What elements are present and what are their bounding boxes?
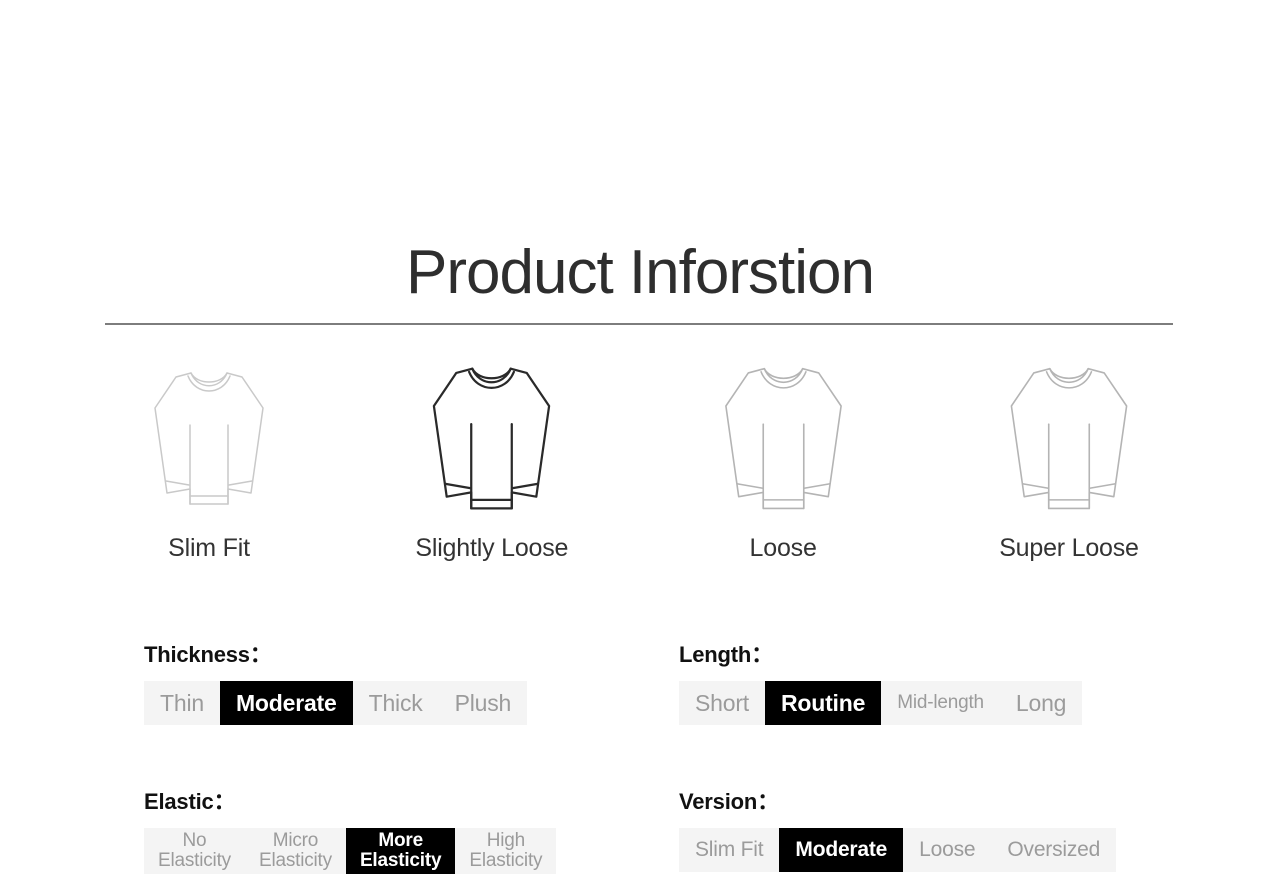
segmented-control-thickness: ThinModerateThickPlush: [144, 681, 527, 725]
fit-option-slim-fit[interactable]: Slim Fit: [150, 358, 268, 563]
fit-option-label: Slightly Loose: [415, 534, 568, 563]
segmented-control-elastic: NoElasticityMicroElasticityMoreElasticit…: [144, 828, 556, 874]
option-label-line2: Elasticity: [158, 851, 231, 871]
option-label-line2: Elasticity: [259, 851, 332, 871]
sweater-icon: [150, 358, 268, 518]
sweater-icon: [428, 358, 555, 518]
option-thickness-thin[interactable]: Thin: [144, 681, 220, 725]
option-elastic-more-elasticity[interactable]: MoreElasticity: [346, 828, 455, 874]
option-version-oversized[interactable]: Oversized: [991, 828, 1116, 872]
option-version-loose[interactable]: Loose: [903, 828, 991, 872]
product-information-page: Product Inforstion Slim FitSlightly Loos…: [0, 0, 1280, 872]
group-label-thickness: Thickness：: [144, 637, 527, 669]
group-label-version: Version：: [679, 784, 1116, 816]
option-thickness-thick[interactable]: Thick: [353, 681, 439, 725]
fit-option-label: Super Loose: [999, 534, 1139, 563]
option-length-routine[interactable]: Routine: [765, 681, 881, 725]
option-label-line2: Elasticity: [469, 851, 542, 871]
option-elastic-no-elasticity[interactable]: NoElasticity: [144, 828, 245, 874]
option-version-slim-fit[interactable]: Slim Fit: [679, 828, 779, 872]
fit-option-slightly-loose[interactable]: Slightly Loose: [415, 358, 568, 563]
sweater-icon: [716, 358, 851, 518]
group-label-length: Length：: [679, 637, 1082, 669]
option-length-long[interactable]: Long: [1000, 681, 1082, 725]
fit-option-loose[interactable]: Loose: [716, 358, 851, 563]
segmented-control-version: Slim FitModerateLooseOversized: [679, 828, 1116, 872]
option-label-line2: Elasticity: [360, 851, 441, 871]
option-version-moderate[interactable]: Moderate: [779, 828, 903, 872]
option-group-version: Version：Slim FitModerateLooseOversized: [679, 784, 1116, 872]
group-label-elastic: Elastic：: [144, 784, 556, 816]
sweater-icon: [998, 358, 1140, 518]
fit-options-row: Slim FitSlightly LooseLooseSuper Loose: [150, 358, 1140, 563]
page-title: Product Inforstion: [0, 242, 1280, 304]
fit-option-super-loose[interactable]: Super Loose: [998, 358, 1140, 563]
option-length-mid-length[interactable]: Mid-length: [881, 681, 1000, 725]
option-label-line1: No: [183, 831, 207, 851]
option-label-line1: High: [487, 831, 525, 851]
option-label-line1: More: [378, 831, 423, 851]
segmented-control-length: ShortRoutineMid-lengthLong: [679, 681, 1082, 725]
option-elastic-high-elasticity[interactable]: HighElasticity: [455, 828, 556, 874]
header-divider: [105, 323, 1173, 325]
option-group-length: Length：ShortRoutineMid-lengthLong: [679, 637, 1082, 725]
option-thickness-moderate[interactable]: Moderate: [220, 681, 353, 725]
fit-option-label: Slim Fit: [168, 534, 250, 563]
option-elastic-micro-elasticity[interactable]: MicroElasticity: [245, 828, 346, 874]
option-thickness-plush[interactable]: Plush: [439, 681, 528, 725]
fit-option-label: Loose: [750, 534, 817, 563]
option-group-elastic: Elastic：NoElasticityMicroElasticityMoreE…: [144, 784, 556, 874]
option-length-short[interactable]: Short: [679, 681, 765, 725]
option-group-thickness: Thickness：ThinModerateThickPlush: [144, 637, 527, 725]
option-label-line1: Micro: [273, 831, 318, 851]
